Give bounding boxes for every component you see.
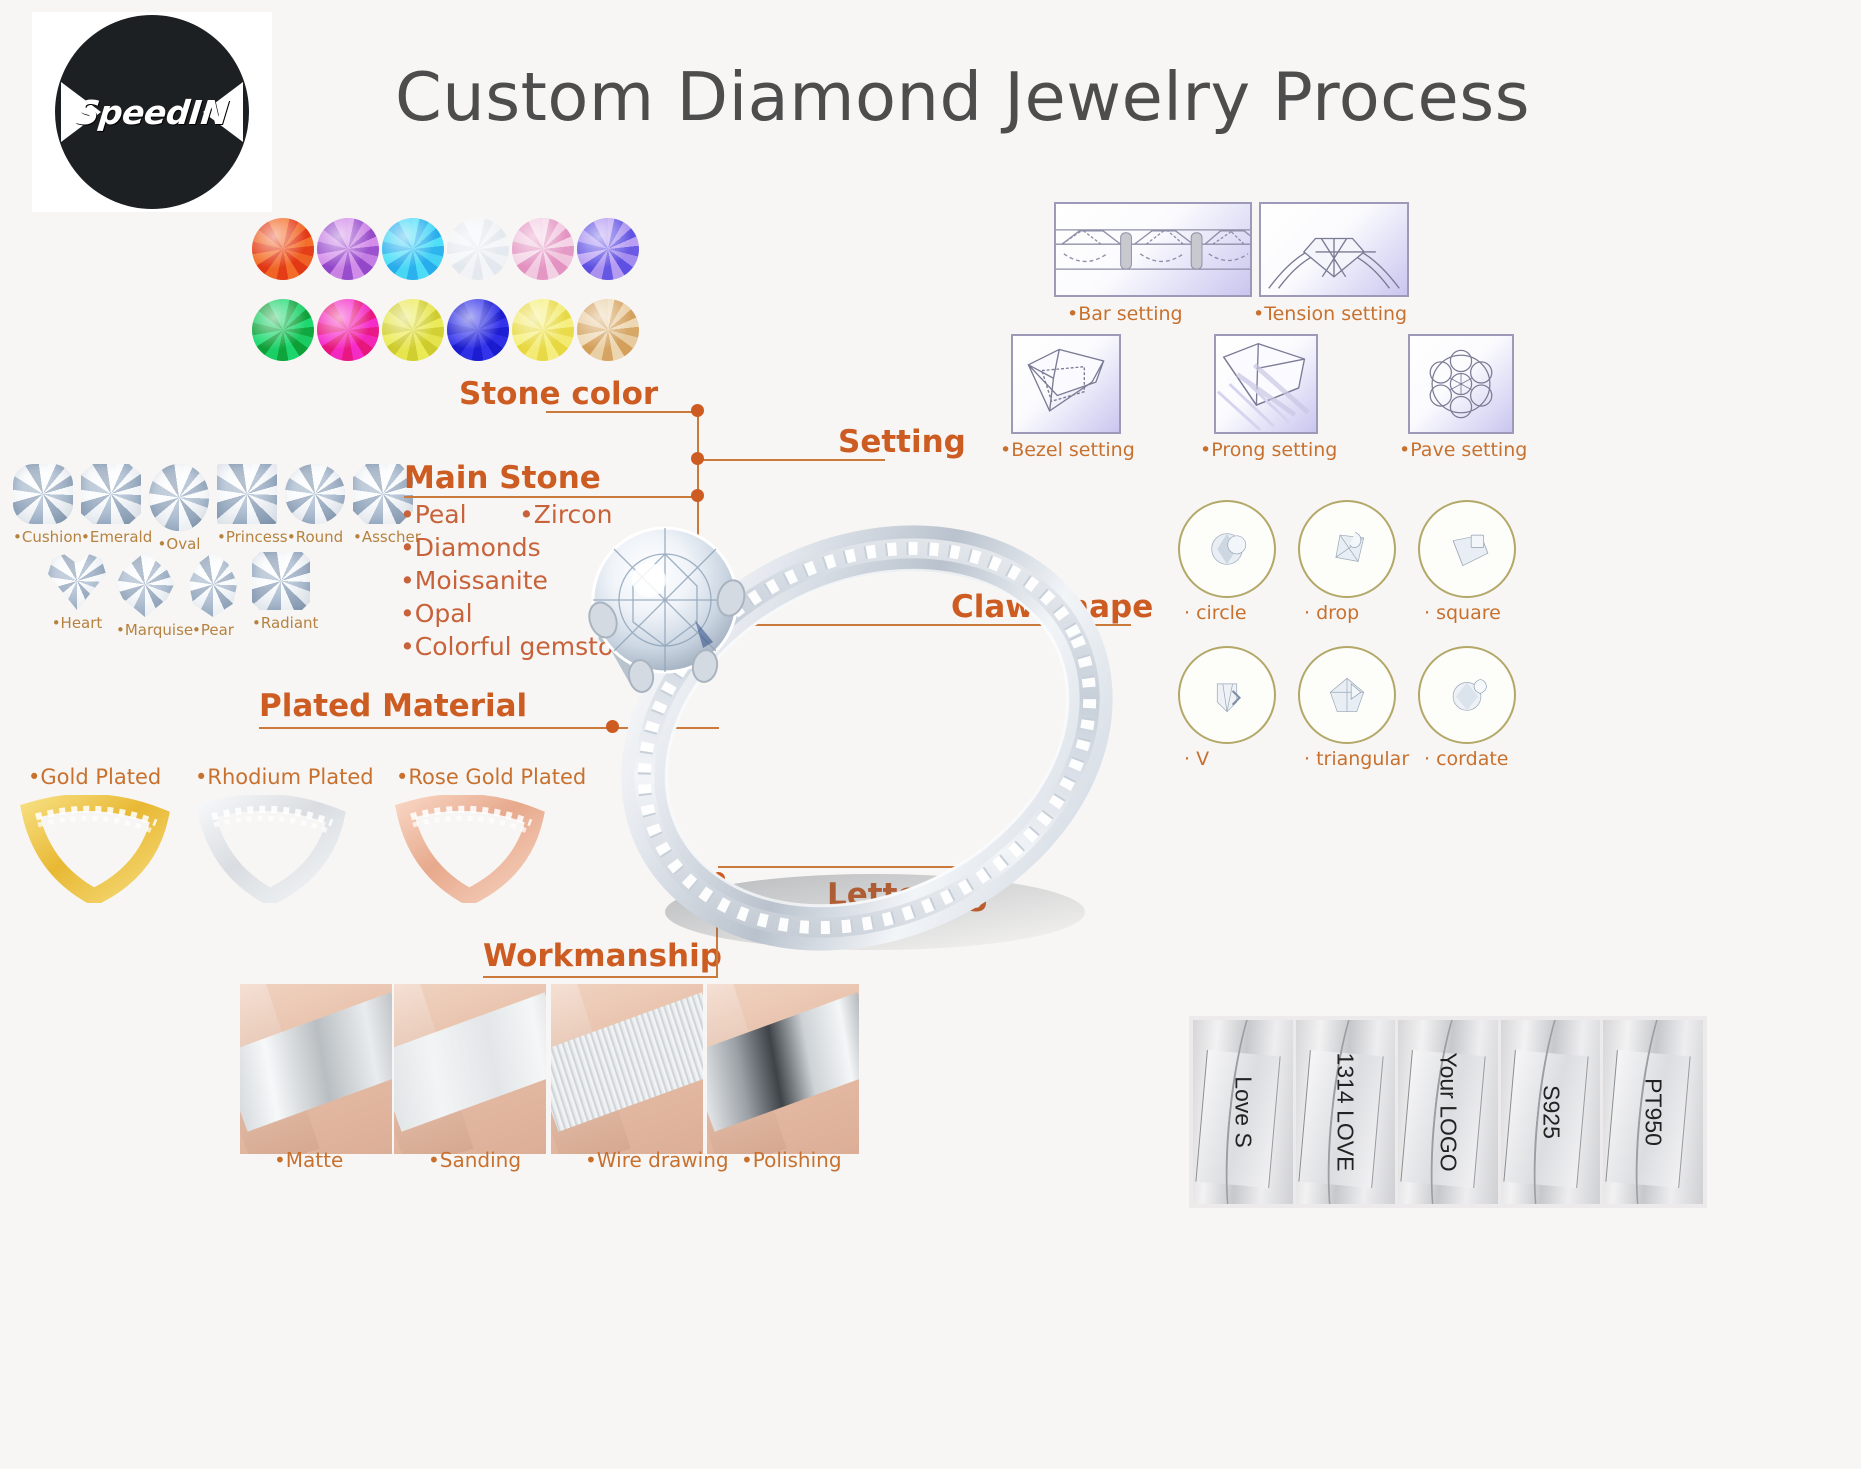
workmanship-photo-wire[interactable]	[551, 984, 703, 1154]
setting-thumb-prong	[1214, 334, 1318, 434]
claw-shape-thumb-square[interactable]	[1418, 500, 1516, 598]
claw-shape-thumb-drop[interactable]	[1298, 500, 1396, 598]
cut-shape-gem-princess	[217, 464, 277, 524]
plated-material-ring[interactable]	[196, 795, 346, 903]
lettering-sample[interactable]: Love S	[1193, 1020, 1293, 1204]
rule-setting	[703, 459, 885, 461]
stone-color-chip-lemon-yellow[interactable]	[512, 299, 574, 361]
claw-shape-label: · V	[1184, 748, 1209, 770]
connector-dot-setting	[691, 452, 704, 465]
infographic-canvas: SpeedIN Custom Diamond Jewelry Process •…	[0, 0, 1861, 1469]
lettering-strip: Love S1314 LOVEYour LOGOS925PT950	[1189, 1016, 1707, 1208]
cut-shape-gem-radiant	[252, 552, 310, 610]
cut-shape-emerald[interactable]: •Emerald	[81, 464, 141, 546]
logo-wordmark: SpeedIN	[74, 93, 230, 132]
cut-shape-cushion[interactable]: •Cushion	[13, 464, 73, 546]
logo-circle: SpeedIN	[55, 15, 249, 209]
cut-shape-label: •Round	[285, 528, 345, 546]
plated-material-ring[interactable]	[395, 795, 545, 903]
brand-logo: SpeedIN	[32, 12, 272, 212]
rule-stone-color	[546, 411, 703, 413]
lettering-text: PT950	[1640, 1078, 1667, 1146]
lettering-sample[interactable]: 1314 LOVE	[1296, 1020, 1396, 1204]
claw-shape-label: · drop	[1304, 602, 1359, 624]
cut-shape-pear[interactable]: •Pear	[184, 552, 242, 639]
claw-shape-thumb-v[interactable]	[1178, 646, 1276, 744]
setting-label-pave: •Pave setting	[1399, 439, 1527, 461]
stone-color-chip-magenta-pink[interactable]	[317, 299, 379, 361]
setting-thumb-bezel	[1011, 334, 1121, 434]
setting-label-bezel: •Bezel setting	[1000, 439, 1135, 461]
stone-color-chip-champagne[interactable]	[577, 299, 639, 361]
cut-shape-gem-oval	[149, 464, 209, 531]
section-title-plated-material: Plated Material	[259, 688, 527, 724]
cut-shape-round[interactable]: •Round	[285, 464, 345, 546]
lettering-sample[interactable]: Your LOGO	[1398, 1020, 1498, 1204]
section-title-setting: Setting	[838, 424, 966, 460]
lettering-sample[interactable]: PT950	[1603, 1020, 1703, 1204]
cut-shape-gem-emerald	[81, 464, 141, 524]
cut-shape-gem-cushion	[13, 464, 73, 524]
stone-color-chip-emerald-green[interactable]	[252, 299, 314, 361]
setting-label-tension: •Tension setting	[1253, 303, 1407, 325]
cut-shape-label: •Princess	[217, 528, 277, 546]
workmanship-photo-polish[interactable]	[707, 984, 859, 1154]
plated-material-label: •Rose Gold Plated	[396, 765, 586, 789]
stone-color-chip-olive-yellow[interactable]	[382, 299, 444, 361]
cut-shape-marquise[interactable]: •Marquise	[116, 552, 174, 639]
setting-thumb-pave	[1408, 334, 1514, 434]
stone-color-chip-clear-white[interactable]	[447, 218, 509, 280]
cut-shape-gem-round	[285, 464, 345, 524]
claw-shape-label: · cordate	[1424, 748, 1508, 770]
stone-color-chip-sky-blue[interactable]	[382, 218, 444, 280]
stone-color-chip-orange-red[interactable]	[252, 218, 314, 280]
workmanship-label: •Sanding	[428, 1148, 521, 1172]
stone-color-chip-royal-blue[interactable]	[447, 299, 509, 361]
cut-shape-label: •Cushion	[13, 528, 73, 546]
claw-shape-thumb-triangular[interactable]	[1298, 646, 1396, 744]
cut-shape-gem-pear	[184, 552, 242, 617]
connector-dot-stone-color	[691, 404, 704, 417]
plated-material-label: •Gold Plated	[28, 765, 161, 789]
workmanship-photo-matte[interactable]	[240, 984, 392, 1154]
cut-shape-label: •Pear	[184, 621, 242, 639]
lettering-text: Love S	[1229, 1076, 1256, 1148]
cut-shape-radiant[interactable]: •Radiant	[252, 552, 310, 632]
setting-label-prong: •Prong setting	[1200, 439, 1337, 461]
lettering-text: S925	[1537, 1085, 1564, 1139]
cut-shape-label: •Marquise	[116, 621, 174, 639]
workmanship-label: •Polishing	[741, 1148, 842, 1172]
page-title: Custom Diamond Jewelry Process	[395, 58, 1530, 136]
claw-shape-thumb-cordate[interactable]	[1418, 646, 1516, 744]
section-title-stone-color: Stone color	[459, 376, 658, 412]
stone-color-chip-amethyst-purple[interactable]	[317, 218, 379, 280]
setting-label-bar: •Bar setting	[1067, 303, 1183, 325]
lettering-sample[interactable]: S925	[1501, 1020, 1601, 1204]
cut-shape-princess[interactable]: •Princess	[217, 464, 277, 546]
claw-shape-label: · square	[1424, 602, 1501, 624]
claw-shape-label: · circle	[1184, 602, 1247, 624]
cut-shape-label: •Radiant	[252, 614, 310, 632]
cut-shape-heart[interactable]: •Heart	[48, 552, 106, 632]
cut-shape-gem-marquise	[116, 552, 174, 617]
setting-thumb-bar	[1054, 202, 1252, 297]
workmanship-label: •Matte	[274, 1148, 343, 1172]
plated-material-ring[interactable]	[20, 795, 170, 903]
cut-shape-oval[interactable]: •Oval	[149, 464, 209, 553]
cut-shape-label: •Oval	[149, 535, 209, 553]
diamond-ring-illustration	[545, 470, 1185, 990]
lettering-text: 1314 LOVE	[1332, 1053, 1359, 1172]
stone-color-chip-light-pink[interactable]	[512, 218, 574, 280]
workmanship-photo-sanding[interactable]	[394, 984, 546, 1154]
stone-color-chip-tanzanite-violet[interactable]	[577, 218, 639, 280]
claw-shape-thumb-circle[interactable]	[1178, 500, 1276, 598]
cut-shape-label: •Heart	[48, 614, 106, 632]
setting-thumb-tension	[1259, 202, 1409, 297]
lettering-text: Your LOGO	[1434, 1052, 1461, 1171]
cut-shape-gem-heart	[48, 552, 106, 610]
plated-material-label: •Rhodium Plated	[195, 765, 374, 789]
cut-shape-label: •Emerald	[81, 528, 141, 546]
claw-shape-label: · triangular	[1304, 748, 1409, 770]
